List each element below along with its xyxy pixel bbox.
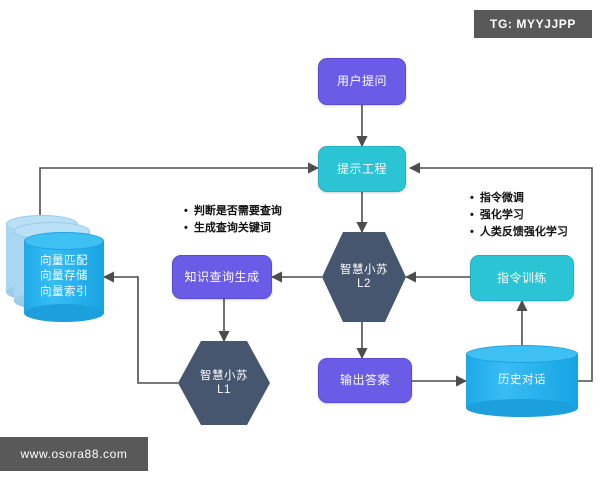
node-xiaosu-l1-label: 智慧小苏 L1 xyxy=(200,369,248,398)
node-user-question-label: 用户提问 xyxy=(337,74,387,89)
node-output-answer-label: 输出答案 xyxy=(340,373,390,388)
node-xiaosu-l1[interactable]: 智慧小苏 L1 xyxy=(178,341,270,425)
node-vector-db-label: 向量匹配 向量存储 向量索引 xyxy=(24,232,104,322)
diagram-canvas: 用户提问 提示工程 知识查询生成 智慧小苏 L2 指令训练 智慧小苏 L1 输出… xyxy=(0,0,600,480)
training-method-notes: 指令微调 强化学习 人类反馈强化学习 xyxy=(470,190,568,241)
node-knowledge-query-generation[interactable]: 知识查询生成 xyxy=(172,255,272,299)
note-line: 生成查询关键词 xyxy=(184,220,282,237)
node-vector-db[interactable]: 向量匹配 向量存储 向量索引 xyxy=(24,232,104,322)
node-xiaosu-l2-label: 智慧小苏 L2 xyxy=(340,263,388,292)
node-instruction-training-label: 指令训练 xyxy=(497,271,547,286)
note-line: 指令微调 xyxy=(470,190,568,207)
node-prompt-engineering[interactable]: 提示工程 xyxy=(318,146,406,192)
node-instruction-training[interactable]: 指令训练 xyxy=(470,255,574,301)
node-history-dialog[interactable]: 历史对话 xyxy=(466,345,578,417)
node-user-question[interactable]: 用户提问 xyxy=(318,58,406,105)
node-history-dialog-label: 历史对话 xyxy=(466,345,578,417)
note-line: 判断是否需要查询 xyxy=(184,203,282,220)
node-prompt-engineering-label: 提示工程 xyxy=(337,162,387,177)
node-knowledge-query-generation-label: 知识查询生成 xyxy=(184,270,259,285)
watermark-telegram: TG: MYYJJPP xyxy=(474,10,592,38)
note-line: 人类反馈强化学习 xyxy=(470,224,568,241)
node-xiaosu-l2[interactable]: 智慧小苏 L2 xyxy=(322,232,406,322)
edge-xiaosu-l1-to-vector-db xyxy=(104,277,178,383)
note-line: 强化学习 xyxy=(470,207,568,224)
node-output-answer[interactable]: 输出答案 xyxy=(318,358,412,403)
watermark-website: www.osora88.com xyxy=(0,437,148,471)
query-decision-notes: 判断是否需要查询 生成查询关键词 xyxy=(184,203,282,237)
